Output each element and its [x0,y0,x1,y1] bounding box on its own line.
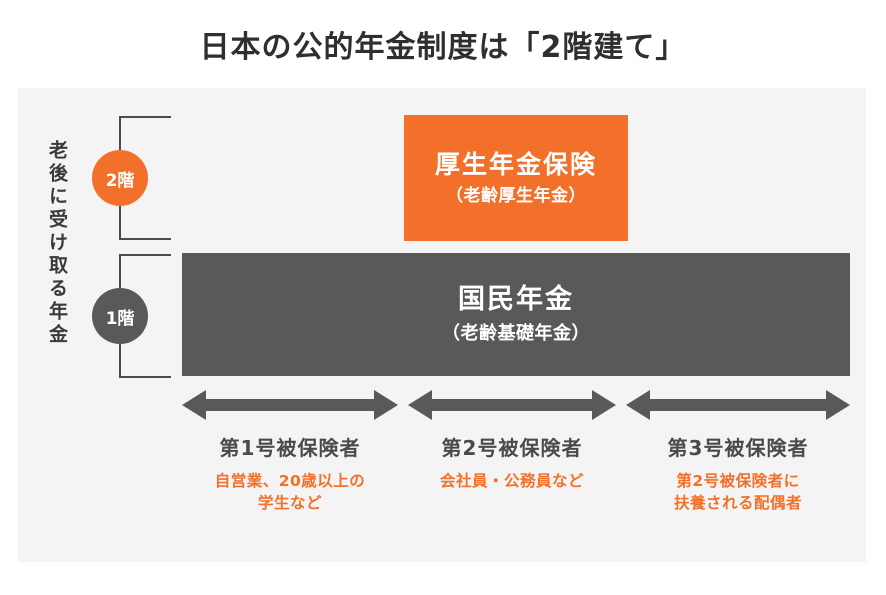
insured-group-1: 第1号被保険者 自営業、20歳以上の学生など [182,388,398,515]
tier-1-name: 国民年金 [458,283,574,317]
tier-2-box: 厚生年金保険 （老齢厚生年金） [404,115,628,241]
page-title: 日本の公的年金制度は「2階建て」 [0,22,886,66]
insured-group-3-label: 第3号被保険者 [626,432,850,461]
double-arrow-icon [408,388,616,422]
tier-1-subname: （老齢基礎年金） [442,323,590,346]
insured-group-3: 第3号被保険者 第2号被保険者に扶養される配偶者 [626,388,850,515]
tier-2-name: 厚生年金保険 [435,149,597,180]
insured-group-2-desc: 会社員・公務員など [408,470,616,492]
side-axis-label: 老後に受け取る年金 [40,128,74,358]
tier-2-badge: 2階 [92,150,148,206]
tier-2-subname: （老齢厚生年金） [446,186,586,207]
insured-group-1-desc: 自営業、20歳以上の学生など [182,470,398,515]
insured-group-2: 第2号被保険者 会社員・公務員など [408,388,616,492]
double-arrow-icon [182,388,398,422]
tier-1-badge: 1階 [92,288,148,344]
insured-group-1-label: 第1号被保険者 [182,432,398,461]
double-arrow-icon [626,388,850,422]
tier-1-box: 国民年金 （老齢基礎年金） [182,253,850,376]
insured-group-2-label: 第2号被保険者 [408,432,616,461]
insured-group-3-desc: 第2号被保険者に扶養される配偶者 [626,470,850,515]
